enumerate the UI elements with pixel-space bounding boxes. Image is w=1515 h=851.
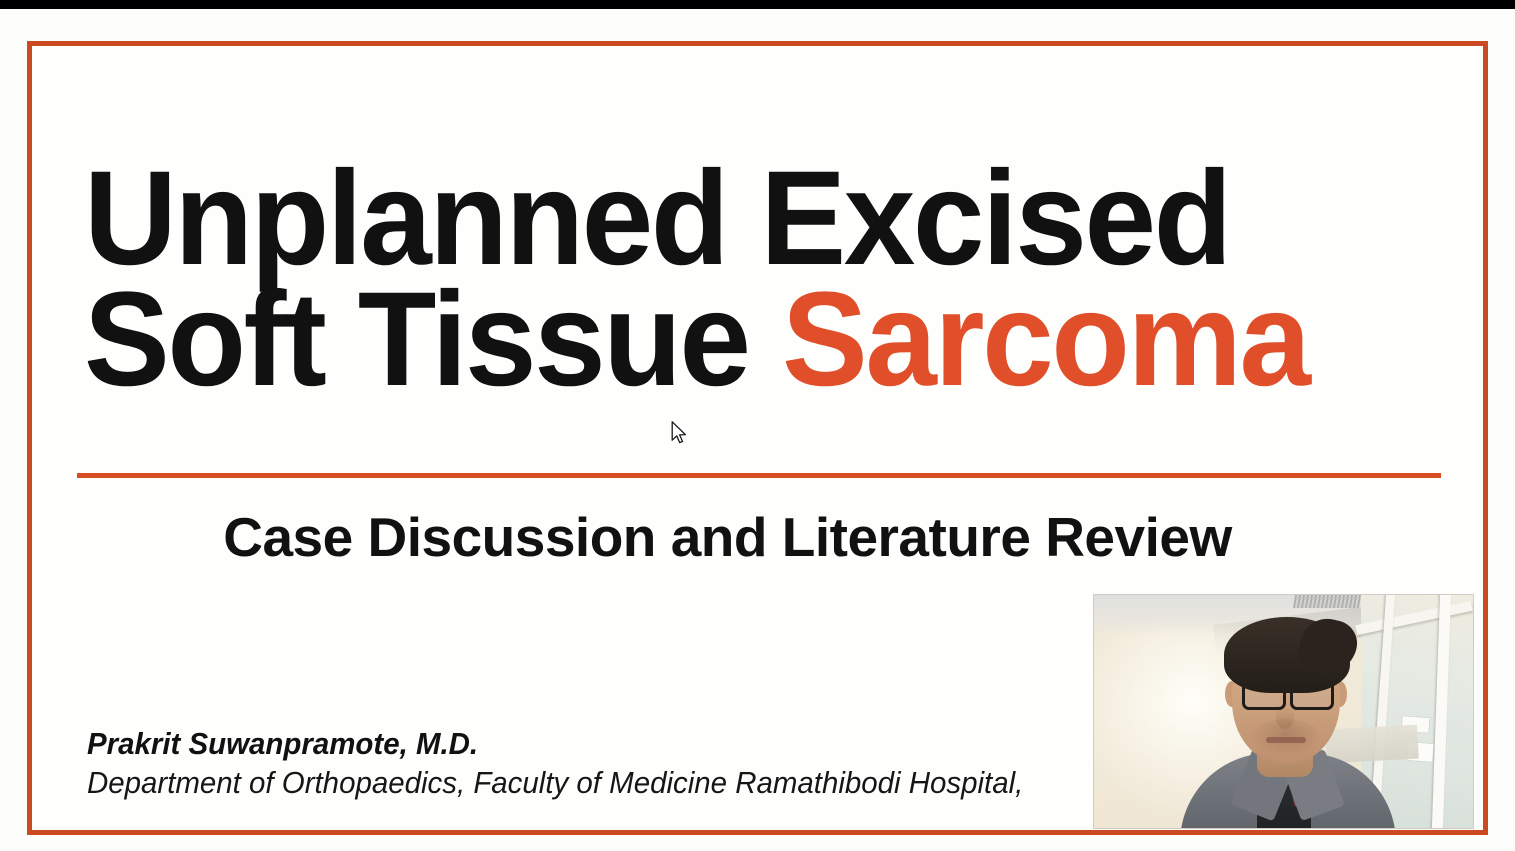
self-view-webcam-thumbnail[interactable] xyxy=(1094,595,1473,828)
slide-subtitle: Case Discussion and Literature Review xyxy=(32,504,1483,570)
title-line-1: Unplanned Excised xyxy=(84,158,1370,279)
title-line-2: Soft Tissue Sarcoma xyxy=(84,279,1370,400)
slide-page-backdrop: Unplanned Excised Soft Tissue Sarcoma Ca… xyxy=(0,9,1515,851)
screen-share-viewport: Unplanned Excised Soft Tissue Sarcoma Ca… xyxy=(0,0,1515,851)
slide-byline: Prakrit Suwanpramote, M.D. Department of… xyxy=(87,724,1237,803)
author-name: Prakrit Suwanpramote, M.D. xyxy=(87,724,1180,763)
slide-title-block: Unplanned Excised Soft Tissue Sarcoma xyxy=(84,158,1424,400)
title-divider-rule xyxy=(77,473,1441,478)
title-accent-word: Sarcoma xyxy=(782,265,1309,414)
webcam-counter xyxy=(1325,725,1419,764)
title-line-2-plain: Soft Tissue xyxy=(84,265,782,414)
webcam-person-mouth xyxy=(1266,737,1306,743)
webcam-person-nose xyxy=(1276,707,1294,729)
webcam-ceiling-vent xyxy=(1293,595,1361,608)
top-letterbox-bar xyxy=(0,0,1515,9)
author-affiliation: Department of Orthopaedics, Faculty of M… xyxy=(87,763,1180,803)
